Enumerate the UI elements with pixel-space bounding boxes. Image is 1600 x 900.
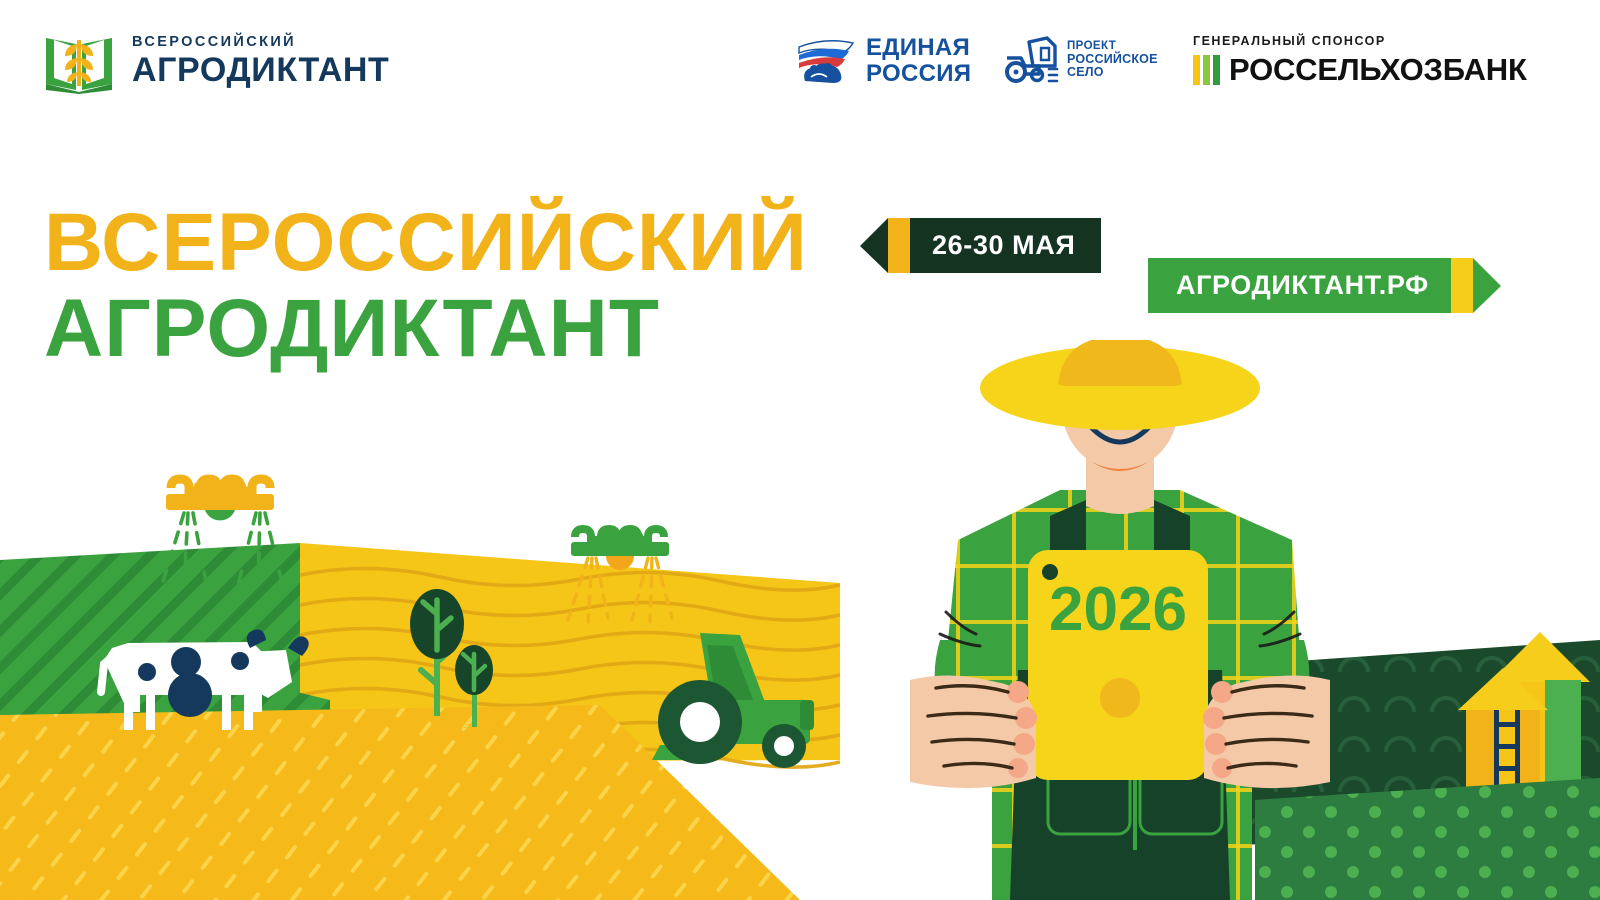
main-headline: ВСЕРОССИЙСКИЙ АГРОДИКТАНТ	[44, 203, 808, 370]
brand-superline: ВСЕРОССИЙСКИЙ	[132, 35, 389, 51]
partner-edinaya-rossiya[interactable]: ЕДИНАЯ РОССИЯ	[795, 36, 971, 86]
er-line2: РОССИЯ	[866, 62, 971, 86]
three-bars-icon	[1193, 55, 1220, 85]
rs-line1: ПРОЕКТ	[1067, 40, 1158, 52]
brand-lockup[interactable]: ВСЕРОССИЙСКИЙ АГРОДИКТАНТ	[42, 28, 389, 94]
er-line1: ЕДИНАЯ	[866, 36, 971, 60]
pencil-tip-left-icon	[860, 218, 888, 273]
partner-rossiyskoe-selo[interactable]: ПРОЕКТ РОССИЙСКОЕ СЕЛО	[1003, 36, 1158, 84]
site-banner[interactable]: АГРОДИКТАНТ.РФ	[1148, 258, 1501, 313]
brand-title: АГРОДИКТАНТ	[132, 53, 389, 87]
tractor-barn-icon	[1003, 36, 1059, 84]
hand-right	[1203, 675, 1330, 788]
rs-line3: СЕЛО	[1067, 66, 1158, 80]
pencil-wood-left	[888, 218, 910, 273]
pencil-tip-right-icon	[1473, 258, 1501, 313]
open-book-wheat-icon	[42, 28, 116, 94]
thumb-overlap	[1100, 678, 1140, 718]
date-text: 26-30 МАЯ	[932, 230, 1075, 261]
pencil-wood-right	[1451, 258, 1473, 313]
date-banner: 26-30 МАЯ	[860, 218, 1101, 273]
farmer-illustration: 2026	[900, 340, 1340, 900]
sponsor-label: ГЕНЕРАЛЬНЫЙ СПОНСОР	[1193, 34, 1527, 48]
straw-hat-crown	[1058, 340, 1182, 386]
landscape-illustration	[0, 0, 1600, 900]
sponsor-rosselhozbank[interactable]: ГЕНЕРАЛЬНЫЙ СПОНСОР РОССЕЛЬХОЗБАНК	[1193, 34, 1527, 88]
headline-line-2: АГРОДИКТАНТ	[44, 289, 808, 369]
rs-line2: РОССИЙСКОЕ	[1067, 53, 1158, 67]
headline-line-1: ВСЕРОССИЙСКИЙ	[44, 203, 808, 283]
banner-stage: 2026	[0, 0, 1600, 900]
page-header: ВСЕРОССИЙСКИЙ АГРОДИКТАНТ ЕДИНАЯ РОССИЯ	[0, 0, 1600, 120]
site-banner-body: АГРОДИКТАНТ.РФ	[1148, 258, 1451, 313]
bear-flag-emblem-icon	[795, 37, 857, 85]
hand-left	[910, 675, 1037, 788]
pencil-banners: 26-30 МАЯ АГРОДИКТАНТ.РФ	[860, 218, 1540, 313]
date-banner-body: 26-30 МАЯ	[910, 218, 1101, 273]
sponsor-name: РОССЕЛЬХОЗБАНК	[1229, 52, 1527, 88]
site-url-text: АГРОДИКТАНТ.РФ	[1176, 270, 1429, 301]
tablet-year-label: 2026	[1049, 575, 1187, 644]
